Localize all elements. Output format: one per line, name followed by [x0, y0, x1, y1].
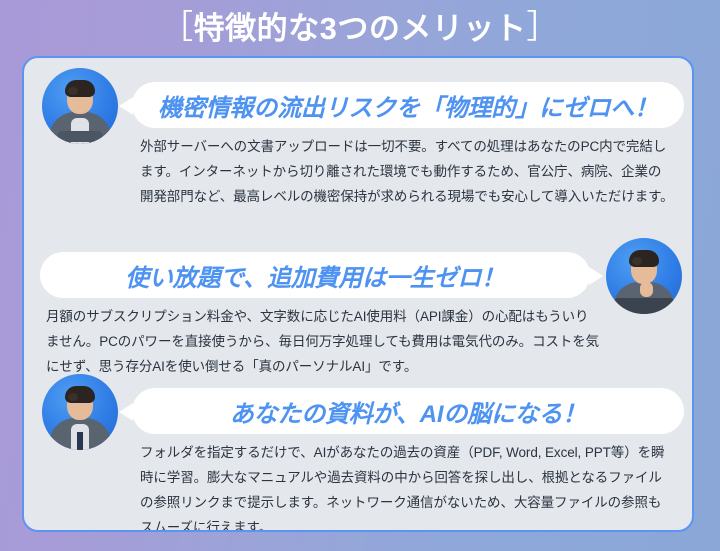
- avatar-hand-shape: [640, 282, 653, 297]
- avatar-hair-shape: [65, 80, 95, 97]
- speech-bubble-3: あなたの資料が、AIの脳になる！: [132, 388, 684, 434]
- speech-bubble-2: 使い放題で、追加費用は一生ゼロ！: [40, 252, 590, 298]
- avatar-2: [606, 238, 682, 314]
- benefits-card: 機密情報の流出リスクを「物理的」にゼロへ！ 外部サーバーへの文書アップロードは一…: [22, 56, 694, 532]
- feature-body-3: フォルダを指定するだけで、AIがあなたの過去の資産（PDF, Word, Exc…: [140, 440, 674, 532]
- avatar-tie-shape: [77, 432, 83, 450]
- avatar-1: [42, 68, 118, 144]
- title-close-bracket: ］: [526, 8, 560, 45]
- feature-body-1: 外部サーバーへの文書アップロードは一切不要。すべての処理はあなたのPC内で完結し…: [140, 134, 674, 209]
- avatar-hair-shape: [629, 250, 659, 267]
- title-text: 特徴的な3つのメリット: [194, 11, 527, 46]
- feature-headline-2: 使い放題で、追加費用は一生ゼロ！: [125, 258, 505, 293]
- avatar-laptop-shape: [614, 298, 674, 314]
- avatar-3: [42, 374, 118, 450]
- speech-bubble-1: 機密情報の流出リスクを「物理的」にゼロへ！: [132, 82, 684, 128]
- feature-headline-1: 機密情報の流出リスクを「物理的」にゼロへ！: [158, 88, 658, 123]
- feature-headline-3: あなたの資料が、AIの脳になる！: [230, 394, 586, 429]
- feature-body-2: 月額のサブスクリプション料金や、文字数に応じたAI使用料（API課金）の心配はも…: [46, 304, 600, 379]
- title-open-bracket: ［: [160, 8, 194, 45]
- avatar-hair-shape: [65, 386, 95, 403]
- avatar-arms-shape: [57, 131, 103, 142]
- page-title: ［特徴的な3つのメリット］: [0, 4, 720, 52]
